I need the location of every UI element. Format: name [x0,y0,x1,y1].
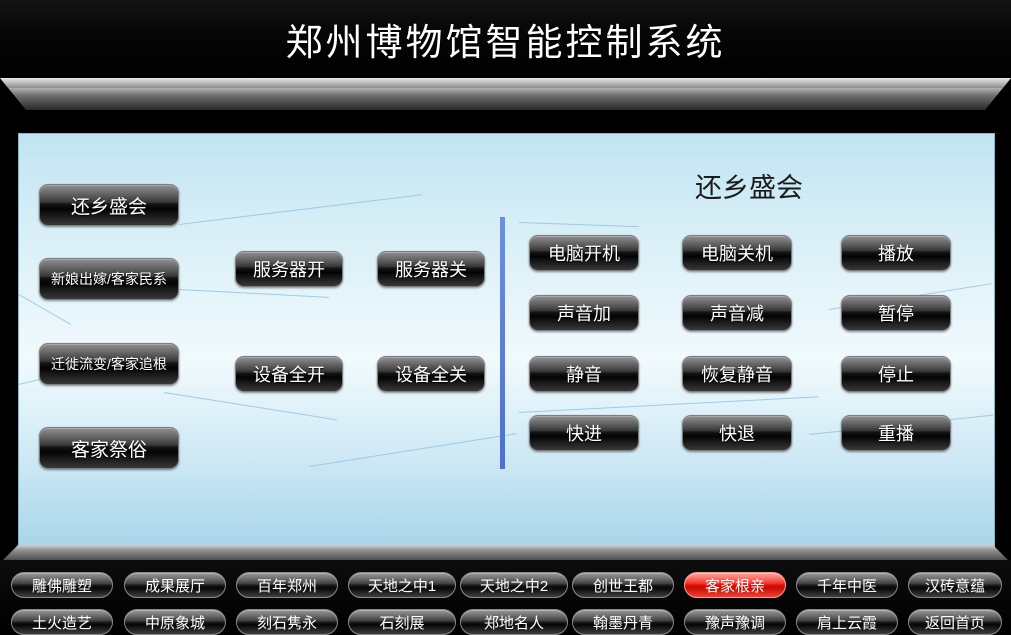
device-button-server-on[interactable]: 服务器开 [235,251,343,287]
title-bar: 郑州博物馆智能控制系统 [0,0,1011,78]
control-button-volume-down[interactable]: 声音减 [682,295,792,331]
control-button-volume-up[interactable]: 声音加 [529,295,639,331]
device-button-all-on[interactable]: 设备全开 [235,356,343,392]
device-button-server-off[interactable]: 服务器关 [377,251,485,287]
device-button-all-off[interactable]: 设备全关 [377,356,485,392]
main-panel: 还乡盛会 还乡盛会 新娘出嫁/客家民系 迁徙流变/客家追根 客家祭俗 服务器开 … [18,133,995,547]
nav-button-yushengyudiao[interactable]: 豫声豫调 [684,609,786,635]
control-button-pause[interactable]: 暂停 [841,295,951,331]
section-title: 还乡盛会 [639,166,859,205]
nav-button-qiannianzhongyi[interactable]: 千年中医 [796,572,898,598]
scene-button-huanxiangshenghui[interactable]: 还乡盛会 [39,184,179,226]
scene-button-kejiajisu[interactable]: 客家祭俗 [39,427,179,469]
control-button-stop[interactable]: 停止 [841,356,951,392]
connector-line [309,433,517,467]
nav-button-bainianzhengzhou[interactable]: 百年郑州 [236,572,338,598]
nav-button-tiandizhizhong-2[interactable]: 天地之中2 [460,572,568,598]
connector-line [519,222,639,227]
connector-line [179,289,329,298]
nav-button-keshijunyong[interactable]: 刻石隽永 [236,609,338,635]
nav-button-hanzhuanyiyun[interactable]: 汉砖意蕴 [908,572,1002,598]
title-shelf-highlight [0,78,1011,88]
application-window: 郑州博物馆智能控制系统 还乡盛会 还乡盛会 新娘出嫁/客家民系 迁徙流变/客家追… [0,0,1011,631]
title-shelf-decoration [0,78,1011,110]
scene-button-qianxiliubian[interactable]: 迁徙流变/客家追根 [39,343,179,385]
nav-button-shikezhan[interactable]: 石刻展 [348,609,456,635]
nav-button-back-home[interactable]: 返回首页 [908,609,1002,635]
nav-button-tiandizhizhong-1[interactable]: 天地之中1 [348,572,456,598]
control-button-pc-power-off[interactable]: 电脑关机 [682,235,792,271]
nav-button-hanmodanqing[interactable]: 翰墨丹青 [572,609,674,635]
connector-line [179,194,422,225]
bottom-nav-bar: 雕佛雕塑 成果展厅 百年郑州 天地之中1 天地之中2 创世王都 客家根亲 千年中… [0,560,1011,631]
nav-button-diaofodiaosu[interactable]: 雕佛雕塑 [11,572,113,598]
page-title: 郑州博物馆智能控制系统 [286,12,726,66]
nav-button-zhongyuanxiangcheng[interactable]: 中原象城 [124,609,226,635]
control-button-play[interactable]: 播放 [841,235,951,271]
nav-button-jianshangyunxia[interactable]: 肩上云霞 [796,609,898,635]
control-button-pc-power-on[interactable]: 电脑开机 [529,235,639,271]
nav-button-chuangshiwangdu[interactable]: 创世王都 [572,572,674,598]
control-button-rewind[interactable]: 快退 [682,415,792,451]
connector-line [519,396,819,413]
vertical-divider [500,217,505,469]
control-button-fast-forward[interactable]: 快进 [529,415,639,451]
nav-button-kejiagenqin[interactable]: 客家根亲 [684,572,786,598]
connector-line [164,392,337,420]
scene-button-xinniangchujia[interactable]: 新娘出嫁/客家民系 [39,258,179,300]
nav-button-zhengdimingren[interactable]: 郑地名人 [460,609,568,635]
nav-button-chengguozhanting[interactable]: 成果展厅 [124,572,226,598]
control-button-mute[interactable]: 静音 [529,356,639,392]
control-button-unmute[interactable]: 恢复静音 [682,356,792,392]
nav-button-tuhuozaoyi[interactable]: 土火造艺 [11,609,113,635]
control-button-replay[interactable]: 重播 [841,415,951,451]
